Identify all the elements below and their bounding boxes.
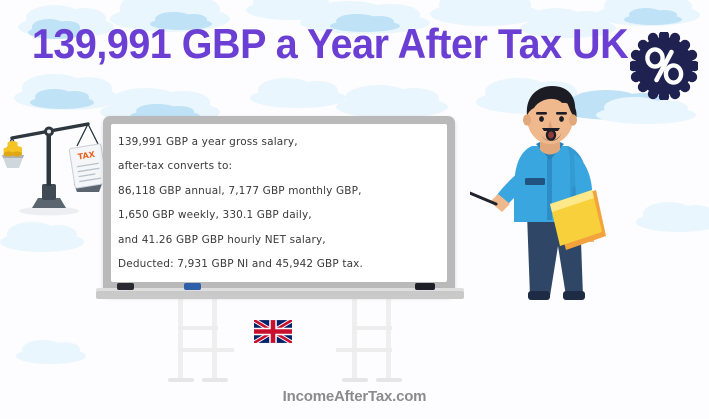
- whiteboard-line-3: 86,118 GBP annual, 7,177 GBP monthly GBP…: [118, 179, 436, 203]
- whiteboard-line-6: Deducted: 7,931 GBP NI and 45,942 GBP ta…: [118, 252, 436, 276]
- whiteboard-text: 139,991 GBP a year gross salary, after-t…: [118, 130, 436, 276]
- black-marker-icon: [415, 283, 435, 290]
- blue-marker-icon: [184, 283, 201, 290]
- uk-flag-icon: [254, 320, 292, 343]
- infographic-page: 139,991 GBP a Year After Tax UK: [0, 0, 709, 419]
- whiteboard-line-5: and 41.26 GBP GBP hourly NET salary,: [118, 228, 436, 252]
- teacher-presenter-icon: [470, 86, 630, 322]
- site-footer: IncomeAfterTax.com: [0, 388, 709, 405]
- eraser-icon: [117, 283, 134, 290]
- whiteboard-line-1: 139,991 GBP a year gross salary,: [118, 130, 436, 154]
- percent-badge-icon: [630, 32, 698, 100]
- whiteboard-line-2: after-tax converts to:: [118, 154, 436, 178]
- whiteboard-tray: [96, 291, 464, 299]
- whiteboard-line-4: 1,650 GBP weekly, 330.1 GBP daily,: [118, 203, 436, 227]
- balance-scales-icon: TAX: [2, 112, 106, 217]
- page-title: 139,991 GBP a Year After Tax UK: [20, 22, 640, 66]
